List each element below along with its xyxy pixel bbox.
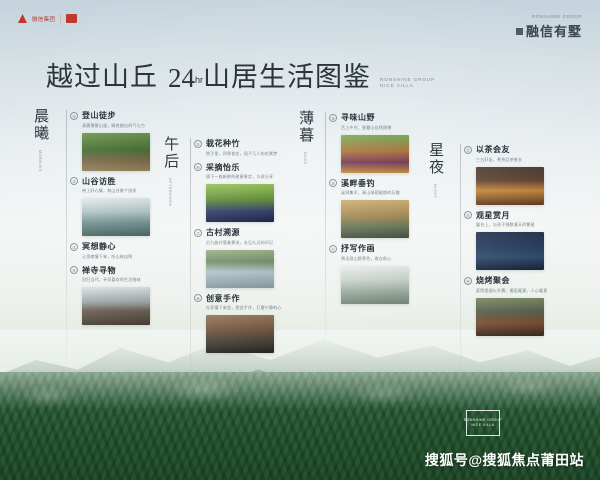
column-item-list: ⑤栽花种竹院子里，四季皆花，园子几人的花景梦⑥采摘怡乐摘下一枚新鲜的甜蜜果实，与… [194,138,282,358]
activity-description: 三五好友，煮茶品茶夜长 [476,157,547,163]
column-divider [460,144,461,374]
activity-heading: ⑤栽花种竹 [194,138,282,149]
activity-item[interactable]: ⑤栽花种竹院子里，四季皆花，园子几人的花景梦 [194,138,282,157]
column-header-dusk: 薄暮DUSK [295,110,315,170]
activity-title: 山谷访胜 [82,176,116,187]
headline-before: 越过山丘 [46,55,158,94]
activity-title: 观星赏月 [476,210,510,221]
activity-number-icon: ⑬ [464,211,472,219]
headline-number: 24 [168,63,195,94]
activity-thumbnail[interactable] [82,198,150,236]
activity-thumbnail[interactable] [341,135,409,173]
activity-heading: ⑨寻味山野 [329,112,409,123]
activity-description: 将无限山野养色，收点纸心 [341,256,409,262]
activity-title: 以茶会友 [476,144,510,155]
activity-title: 禅寺寻物 [82,265,116,276]
activity-number-icon: ⑦ [194,229,202,237]
headline-sub-line2: NICE VILLA [380,83,435,89]
activity-heading: ②山谷访胜 [70,176,150,187]
column-header-morning: 晨曦MORNING [30,108,50,177]
activity-heading: ⑪抒写作画 [329,243,409,254]
column-title-en: DUSK [303,152,307,165]
column-title-en: AFTERNOON [168,178,172,207]
column-title-en: MORNING [38,150,42,172]
page-title: 越过山丘 24 hr 山居生活图鉴 RONSHINE GROUP NICE VI… [46,55,435,94]
column-title-cn: 薄暮 [297,110,313,144]
activity-description: 沿九曲村落美景流，去见久远的印记 [206,240,282,246]
column-header-night: 星夜NIGHT [425,142,445,204]
activity-description: 清晨薄雾山道，脚底踏出的气与力 [82,123,150,129]
activity-number-icon: ① [70,112,78,120]
activity-title: 栽花种竹 [206,138,240,149]
activity-heading: ⑫以茶会友 [464,144,547,155]
activity-description: 在家慢下来里，塑造手作，打磨宁静的心 [206,305,282,311]
column-header-afternoon: 午后AFTERNOON [160,136,180,212]
brand-logo-bottom: RONSHINE GROUP NICE VILLA [466,410,500,436]
activity-description: 溪涧集半，青山绿荫能换的乐趣 [341,190,409,196]
column-divider [325,112,326,342]
activity-description: 让思绪慢下来，听山林自鸣 [82,254,150,260]
activity-heading: ⑬观星赏月 [464,210,547,221]
activity-heading: ⑩溪畔垂钓 [329,178,409,189]
activity-number-icon: ④ [70,266,78,274]
activity-item[interactable]: ⑫以茶会友三五好友，煮茶品茶夜长 [464,144,547,205]
activity-heading: ⑧创意手作 [194,293,282,304]
activity-title: 烧烤聚会 [476,275,510,286]
activity-description: 摘下一枚新鲜的甜蜜果实，与孩分享 [206,174,282,180]
activity-number-icon: ⑨ [329,114,337,122]
activity-thumbnail[interactable] [82,287,150,325]
activity-thumbnail[interactable] [206,315,274,353]
column-divider [190,138,191,418]
activity-heading: ④禅寺寻物 [70,265,150,276]
activity-item[interactable]: ③冥想静心让思绪慢下来，听山林自鸣 [70,241,150,260]
watermark-text: 搜狐号@搜狐焦点莆田站 [425,450,584,470]
activity-title: 采摘怡乐 [206,162,240,173]
activity-thumbnail[interactable] [206,184,274,222]
brand-name-cn: 融信集团 [32,15,55,23]
activity-title: 创意手作 [206,293,240,304]
activity-item[interactable]: ①登山徒步清晨薄雾山道，脚底踏出的气与力 [70,110,150,171]
headline-sub-line1: RONSHINE GROUP [380,77,435,83]
activity-heading: ①登山徒步 [70,110,150,121]
activity-description: 庭院里烟火升腾，邂逅暖意，人心暖意 [476,288,547,294]
brand-badge-icon [66,14,77,23]
activity-title: 寻味山野 [341,112,375,123]
headline-after: 山居生活图鉴 [203,55,371,94]
brand-en-top-right: RONSHINE GROUP [516,14,582,19]
column-title-en: NIGHT [433,184,437,199]
activity-title: 冥想静心 [82,241,116,252]
activity-number-icon: ⑫ [464,146,472,154]
activity-number-icon: ⑪ [329,245,337,253]
activity-item[interactable]: ⑪抒写作画将无限山野养色，收点纸心 [329,243,409,304]
activity-number-icon: ⑤ [194,140,202,148]
activity-heading: ⑭烧烤聚会 [464,275,547,286]
activity-heading: ③冥想静心 [70,241,150,252]
activity-item[interactable]: ⑥采摘怡乐摘下一枚新鲜的甜蜜果实，与孩分享 [194,162,282,223]
activity-title: 登山徒步 [82,110,116,121]
column-item-list: ⑫以茶会友三五好友，煮茶品茶夜长⑬观星赏月露台上，与孩子细数漫天的繁星⑭烧烤聚会… [464,144,547,341]
column-item-list: ⑨寻味山野舌上乡它，尝最山自然馈赠⑩溪畔垂钓溪涧集半，青山绿荫能换的乐趣⑪抒写作… [329,112,409,309]
activity-description: 舌上乡它，尝最山自然馈赠 [341,125,409,131]
activity-number-icon: ⑥ [194,163,202,171]
activity-item[interactable]: ⑧创意手作在家慢下来里，塑造手作，打磨宁静的心 [194,293,282,354]
activity-description: 露台上，与孩子细数漫天的繁星 [476,222,547,228]
activity-description: 院子里，四季皆花，园子几人的花景梦 [206,151,282,157]
activity-thumbnail[interactable] [341,200,409,238]
activity-item[interactable]: ⑭烧烤聚会庭院里烟火升腾，邂逅暖意，人心暖意 [464,275,547,336]
headline-subtitle: RONSHINE GROUP NICE VILLA [380,77,435,89]
activity-title: 古村溯源 [206,227,240,238]
ronshine-triangle-icon [18,14,27,23]
column-title-cn: 晨曦 [32,108,48,142]
headline-superscript: hr [195,75,203,85]
brand-cn-top-right: 融信有墅 [526,24,582,39]
activity-item[interactable]: ⑨寻味山野舌上乡它，尝最山自然馈赠 [329,112,409,173]
activity-thumbnail[interactable] [206,250,274,288]
column-divider [66,110,67,360]
activity-thumbnail[interactable] [341,266,409,304]
activity-item[interactable]: ②山谷访胜带上好心情，和山谷做个陪伴 [70,176,150,237]
activity-item[interactable]: ⑩溪畔垂钓溪涧集半，青山绿荫能换的乐趣 [329,178,409,239]
activity-heading: ⑥采摘怡乐 [194,162,282,173]
activity-item[interactable]: ⑬观星赏月露台上，与孩子细数漫天的繁星 [464,210,547,271]
brand-square-icon [516,28,523,35]
activity-number-icon: ③ [70,243,78,251]
activity-thumbnail[interactable] [476,298,544,336]
timeline-columns: 晨曦MORNING①登山徒步清晨薄雾山道，脚底踏出的气与力②山谷访胜带上好心情，… [0,104,600,404]
activity-description: 回归当代，寻觅喜欢的生活细味 [82,277,150,283]
activity-description: 带上好心情，和山谷做个陪伴 [82,188,150,194]
activity-thumbnail[interactable] [476,167,544,205]
activity-heading: ⑦古村溯源 [194,227,282,238]
activity-number-icon: ⑭ [464,277,472,285]
poster-canvas: 融信集团 RONSHINE GROUP 融信有墅 越过山丘 24 hr 山居生活… [0,0,600,480]
activity-number-icon: ⑧ [194,294,202,302]
column-title-cn: 午后 [162,136,178,170]
activity-item[interactable]: ⑦古村溯源沿九曲村落美景流，去见久远的印记 [194,227,282,288]
column-title-cn: 星夜 [427,142,443,176]
activity-thumbnail[interactable] [476,232,544,270]
activity-number-icon: ② [70,177,78,185]
activity-title: 抒写作画 [341,243,375,254]
activity-title: 溪畔垂钓 [341,178,375,189]
brand-logo-top-right: RONSHINE GROUP 融信有墅 [516,14,582,41]
brand-logo-top-left: 融信集团 [18,14,77,23]
activity-item[interactable]: ④禅寺寻物回归当代，寻觅喜欢的生活细味 [70,265,150,326]
activity-number-icon: ⑩ [329,179,337,187]
logo-divider [60,14,61,23]
brand-bottom-line2: NICE VILLA [471,423,494,428]
activity-thumbnail[interactable] [82,133,150,171]
column-item-list: ①登山徒步清晨薄雾山道，脚底踏出的气与力②山谷访胜带上好心情，和山谷做个陪伴③冥… [70,110,150,330]
